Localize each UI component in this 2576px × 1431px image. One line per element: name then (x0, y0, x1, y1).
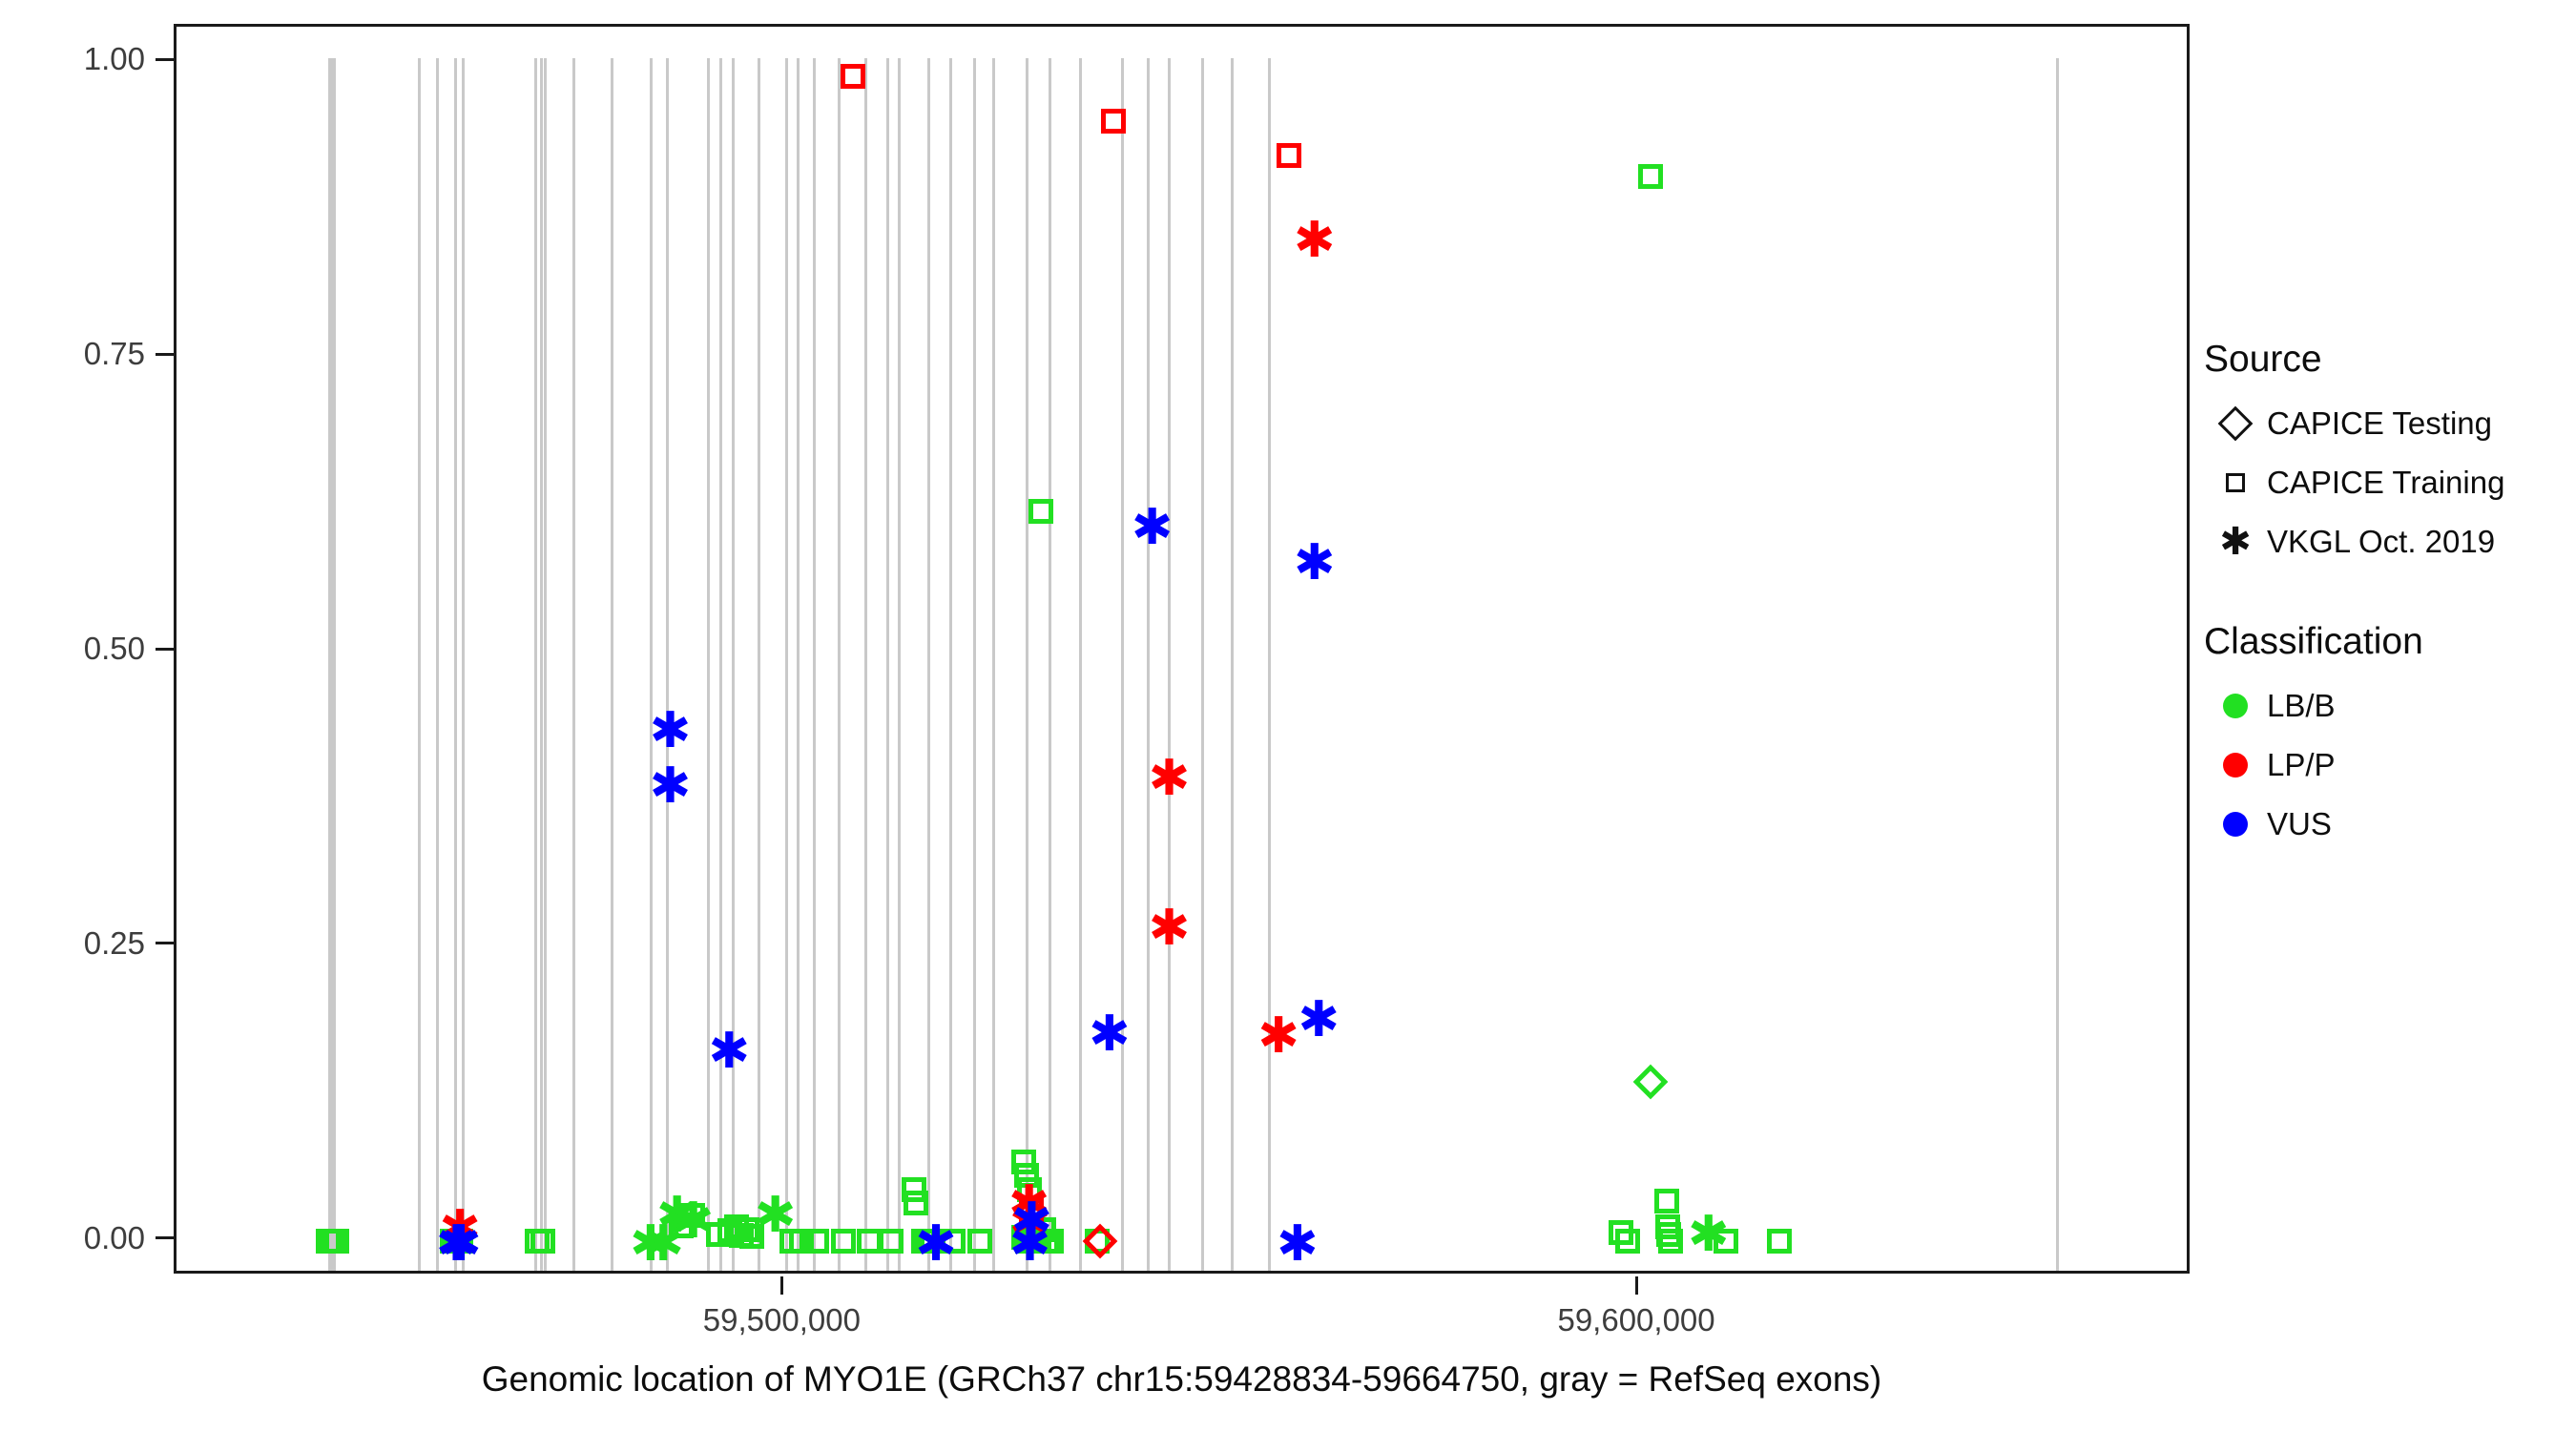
data-point-asterisk: ✱ (648, 706, 692, 750)
y-tick (156, 58, 174, 61)
data-point-square (831, 1229, 856, 1254)
chart-root: CAPICE score (pathogenicity estimate) ✱✱… (0, 0, 2576, 1431)
data-point-square (1654, 1189, 1679, 1213)
exon-line (758, 58, 760, 1271)
legend-item-capice-training[interactable]: CAPICE Training (2204, 453, 2566, 512)
y-tick (156, 648, 174, 651)
exon-line (666, 58, 669, 1271)
exon-line (418, 58, 421, 1271)
exon-line (1168, 58, 1171, 1271)
legend-classification-title: Classification (2204, 621, 2566, 663)
dot-icon (2204, 753, 2267, 778)
legend-item-capice-testing[interactable]: CAPICE Testing (2204, 394, 2566, 453)
legend-item-vus[interactable]: VUS (2204, 795, 2566, 854)
dot-icon (2204, 812, 2267, 837)
data-point-square (1638, 164, 1663, 189)
exon-line (1201, 58, 1204, 1271)
data-point-asterisk: ✱ (439, 1219, 483, 1263)
data-point-square (804, 1229, 829, 1254)
exon-line (1026, 58, 1028, 1271)
data-point-square (967, 1229, 992, 1254)
y-tick-label: 0.75 (0, 336, 145, 372)
data-point-asterisk: ✱ (648, 761, 692, 805)
data-point-square (1767, 1229, 1792, 1254)
dot-icon (2204, 694, 2267, 718)
data-point-square (324, 1229, 349, 1254)
exon-line (1079, 58, 1082, 1271)
y-tick (156, 1236, 174, 1239)
exon-line (864, 58, 867, 1271)
y-tick-label: 0.50 (0, 631, 145, 667)
exon-line (1231, 58, 1234, 1271)
x-axis-title: Genomic location of MYO1E (GRCh37 chr15:… (174, 1359, 2190, 1400)
x-tick (1635, 1276, 1638, 1295)
data-point-asterisk: ✱ (1131, 503, 1174, 547)
exon-line (949, 58, 952, 1271)
data-point-square (1101, 109, 1126, 134)
legend-item-vkgl[interactable]: ✱ VKGL Oct. 2019 (2204, 512, 2566, 571)
data-point-square (1658, 1229, 1683, 1254)
exon-line (1121, 58, 1124, 1271)
data-point-asterisk: ✱ (1008, 1219, 1051, 1263)
exon-line (838, 58, 841, 1271)
plot-panel: ✱✱✱✱✱✱✱✱✱✱✱✱✱✱✱✱✱✱✱✱✱✱✱✱✱✱ (174, 24, 2190, 1274)
exon-line (436, 58, 439, 1271)
data-point-square (1615, 1229, 1640, 1254)
data-point-square (841, 64, 865, 89)
data-point-asterisk: ✱ (1088, 1009, 1132, 1053)
plot-area: ✱✱✱✱✱✱✱✱✱✱✱✱✱✱✱✱✱✱✱✱✱✱✱✱✱✱ (177, 27, 2187, 1271)
exon-line (2056, 58, 2059, 1271)
exon-line (927, 58, 930, 1271)
exon-line (973, 58, 976, 1271)
legend-item-lbb[interactable]: LB/B (2204, 676, 2566, 736)
legend-label: VUS (2267, 806, 2332, 842)
exon-line (732, 58, 735, 1271)
data-point-asterisk: ✱ (754, 1191, 798, 1234)
data-point-asterisk: ✱ (1147, 903, 1191, 947)
diamond-icon (2204, 411, 2267, 436)
y-tick-label: 0.00 (0, 1220, 145, 1256)
data-point-asterisk: ✱ (1147, 754, 1191, 798)
legend-item-lpp[interactable]: LP/P (2204, 736, 2566, 795)
data-point-asterisk: ✱ (914, 1219, 958, 1263)
x-tick-label: 59,500,000 (703, 1302, 861, 1338)
data-point-asterisk: ✱ (1293, 538, 1337, 582)
exon-line (454, 58, 457, 1271)
y-tick (156, 353, 174, 356)
exon-line (813, 58, 816, 1271)
exon-line (611, 58, 613, 1271)
data-point-asterisk: ✱ (672, 1196, 716, 1240)
data-point-asterisk: ✱ (1297, 995, 1340, 1039)
data-point-square (904, 1191, 928, 1215)
exon-line (992, 58, 995, 1271)
data-point-asterisk: ✱ (1293, 216, 1337, 259)
exon-line (719, 58, 722, 1271)
legend-label: VKGL Oct. 2019 (2267, 524, 2495, 560)
data-point-square (879, 1229, 904, 1254)
legend-label: LB/B (2267, 688, 2336, 724)
exon-line (797, 58, 800, 1271)
legend-label: CAPICE Testing (2267, 405, 2492, 442)
exon-line (650, 58, 653, 1271)
data-point-square (1028, 499, 1053, 524)
exon-line (1147, 58, 1150, 1271)
y-tick-label: 0.25 (0, 925, 145, 962)
legend-label: CAPICE Training (2267, 465, 2504, 501)
square-icon (2204, 473, 2267, 492)
asterisk-icon: ✱ (2204, 523, 2267, 561)
exon-line (333, 58, 336, 1271)
exon-line (1268, 58, 1271, 1271)
data-point-square (1277, 143, 1301, 168)
data-point-diamond (1632, 1065, 1668, 1100)
legend-source-title: Source (2204, 339, 2566, 381)
y-tick (156, 942, 174, 944)
exon-line (462, 58, 465, 1271)
legend-spacer (2204, 571, 2566, 621)
exon-line (785, 58, 788, 1271)
exon-line (540, 58, 543, 1271)
data-point-square (530, 1229, 555, 1254)
y-tick-label: 1.00 (0, 41, 145, 77)
exon-line (534, 58, 537, 1271)
exon-line (544, 58, 547, 1271)
exon-line (707, 58, 710, 1271)
legend-label: LP/P (2267, 747, 2336, 783)
legend: Source CAPICE Testing CAPICE Training ✱ … (2204, 339, 2566, 854)
data-point-asterisk: ✱ (1257, 1011, 1300, 1055)
x-tick-label: 59,600,000 (1557, 1302, 1714, 1338)
exon-line (572, 58, 575, 1271)
x-tick (780, 1276, 783, 1295)
exon-line (898, 58, 901, 1271)
exon-line (886, 58, 889, 1271)
data-point-asterisk: ✱ (1276, 1219, 1319, 1263)
data-point-square (857, 1229, 882, 1254)
exon-line (1049, 58, 1051, 1271)
data-point-asterisk: ✱ (1687, 1210, 1731, 1254)
data-point-asterisk: ✱ (707, 1027, 751, 1070)
